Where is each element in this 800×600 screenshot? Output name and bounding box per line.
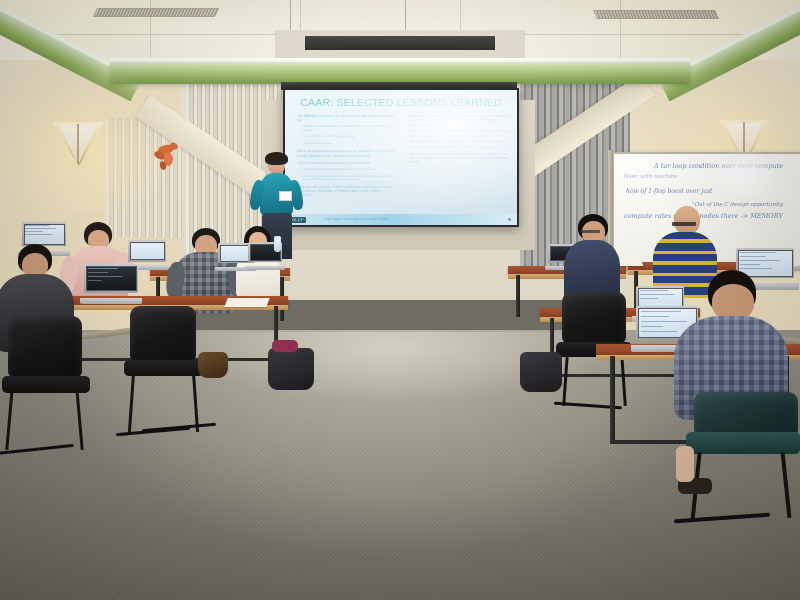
slide-bullet: ◦Key point of the new scientists who at … — [299, 175, 399, 183]
slide-bullet: ▪Science codes are under active developm… — [406, 129, 512, 138]
projection-screen[interactable]: CAAR: SELECTED LESSONS LEARNED ▪The diff… — [283, 88, 519, 227]
laptop-base — [245, 266, 284, 270]
table-leg — [610, 356, 615, 444]
chair-leg — [128, 372, 135, 432]
slide-bullet: ◦Structure of the data/how e.g. multiple… — [299, 125, 399, 133]
bullet-dot: ◦ — [299, 135, 300, 140]
chair-leg — [75, 388, 83, 450]
slide-bullet-text: Code extension and/or rate or tool quali… — [303, 135, 356, 140]
slide-bullet-text: Since not all future code changes can be… — [297, 149, 398, 158]
slide-column-right: ▪Each code team took roughly two months … — [406, 114, 512, 209]
sconce-seam — [77, 124, 79, 164]
slide-bullet: ◦The code uses CUDA — [299, 142, 399, 147]
slide-bullet-text: Structure of the data/how e.g. multiple … — [303, 125, 398, 133]
slide-footer-subtitle: Oak Ridge Leadership Computing Facility — [325, 217, 388, 221]
stacking-chair[interactable] — [118, 306, 210, 436]
slide-bullet: ▪Since not all future code changes can b… — [293, 149, 399, 158]
attendee-glasses — [672, 222, 696, 226]
chair-back — [8, 316, 82, 378]
laptop[interactable] — [84, 264, 138, 304]
slide-footer: OLCF Oak Ridge Leadership Computing Faci… — [285, 214, 517, 225]
slide-bullet-text: Detail work, for an acceptable rate requ… — [303, 168, 376, 173]
attendee-head — [674, 206, 700, 234]
soffit-recess — [305, 36, 495, 50]
bullet-dot: ◦ — [299, 142, 300, 147]
slide-bullet-text: The difficulty level of the GPU port and… — [297, 114, 398, 123]
attendee-head — [712, 284, 754, 320]
bullet-dot: ▪ — [406, 140, 407, 149]
whiteboard-line: how of 1-flop boost over just — [626, 188, 712, 195]
slide-bullet: ▪More available flops on the node should… — [406, 140, 512, 149]
attendee-glasses — [580, 230, 600, 233]
laptop-lid — [128, 240, 166, 262]
bullet-dot: ▪ — [406, 114, 407, 127]
slide-footer-dot — [508, 218, 511, 221]
slide-bullet: ▪The difficulty level of the GPU port an… — [293, 114, 399, 123]
classroom-scene: CAAR: SELECTED LESSONS LEARNED ▪The diff… — [0, 0, 800, 600]
slide-bullet-text: We may need to look at unconventional pl… — [410, 152, 511, 165]
slide-bullet-text: Each code team took roughly two months o… — [410, 114, 511, 127]
slide-bullet-text: Key point of the new scientists who at b… — [303, 175, 398, 183]
backpack[interactable] — [520, 352, 562, 392]
projected-slide: CAAR: SELECTED LESSONS LEARNED ▪The diff… — [285, 90, 517, 225]
notepad[interactable] — [224, 298, 270, 307]
chair-leg — [192, 372, 199, 432]
bag-strap — [272, 340, 298, 352]
slide-bullet-text: More available flops on the node should … — [410, 140, 511, 149]
water-bottle[interactable] — [274, 236, 281, 252]
chair-back — [694, 392, 798, 436]
slide-bullet: ▪Each code team took roughly two months … — [406, 114, 512, 127]
laptop-screen — [130, 242, 165, 261]
laptop-base — [80, 298, 143, 304]
slide-bullet: ▪1.5 to 3.0 person-years required to por… — [293, 161, 399, 166]
presenter-name-badge — [279, 191, 292, 201]
slide-column-left: ▪The difficulty level of the GPU port an… — [293, 114, 399, 209]
stacking-chair[interactable] — [0, 316, 96, 446]
stacking-chair-teal[interactable] — [680, 392, 800, 522]
table-leg — [516, 275, 520, 317]
backpack[interactable] — [268, 348, 314, 390]
bullet-dot: ▪ — [293, 114, 294, 123]
slide-bullet: ▪GPU port was possible 70-80% of develop… — [293, 185, 399, 198]
chair-sled — [142, 423, 216, 432]
slide-bullet: ▪We may need to look at unconventional p… — [406, 152, 512, 165]
coral-wall-ornament — [152, 141, 186, 171]
bullet-dot: ▪ — [406, 129, 407, 138]
slide-bullet-text: 1.5 to 3.0 person-years required to port… — [297, 161, 370, 166]
ceiling-air-vent — [93, 8, 219, 17]
chair-back — [130, 306, 196, 362]
slide-bullet-text: Science codes are under active developme… — [410, 129, 511, 138]
presenter-glasses — [268, 161, 284, 164]
slide-bullet-text: GPU port was possible 70-80% of develope… — [297, 185, 398, 198]
slide-body: ▪The difficulty level of the GPU port an… — [293, 114, 511, 209]
slide-bullet-text: The code uses CUDA — [303, 142, 331, 147]
ceiling-air-vent — [593, 10, 719, 19]
bullet-dot: ▪ — [406, 152, 407, 165]
chair-seat — [686, 432, 800, 454]
chair-leg — [5, 388, 13, 450]
green-beam-top — [110, 62, 690, 84]
whiteboard-line: Nvec with machine — [624, 174, 678, 180]
laptop-screen — [86, 266, 137, 292]
laptop-lid — [84, 264, 138, 293]
slide-title: CAAR: SELECTED LESSONS LEARNED — [291, 97, 511, 109]
chair-sled — [674, 513, 770, 524]
whiteboard-glare — [706, 148, 782, 200]
chair-leg — [781, 452, 792, 518]
slide-bullet: ◦Code extension and/or rate or tool qual… — [299, 135, 399, 140]
laptop-screen — [24, 224, 65, 245]
bag[interactable] — [198, 352, 228, 378]
laptop-lid — [22, 222, 66, 246]
chair-leg — [620, 354, 627, 406]
slide-bullet: ◦Detail work, for an acceptable rate req… — [299, 168, 399, 173]
leg — [676, 446, 694, 482]
chair-back — [562, 292, 626, 344]
chair-leg — [562, 354, 569, 406]
bullet-dot: ◦ — [299, 125, 300, 133]
